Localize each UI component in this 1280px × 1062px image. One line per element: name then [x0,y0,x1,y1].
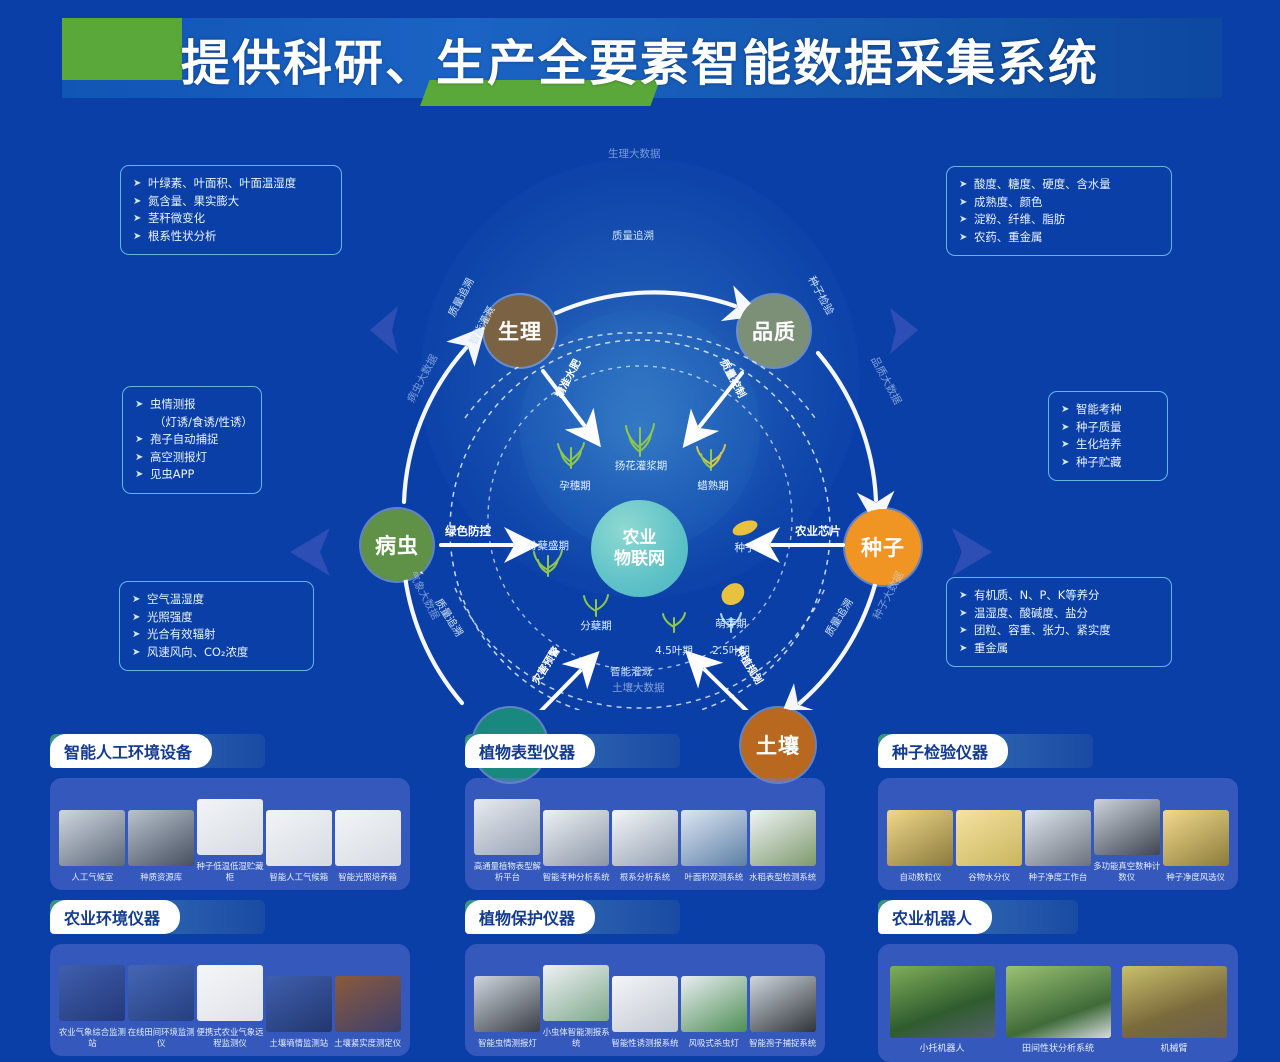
product-item[interactable]: 土壤墒情监测站 [264,976,333,1049]
arrow-bullet-icon: ➤ [132,591,140,609]
panel-title: 植物保护仪器 [465,900,595,934]
info-item: ➤种子质量 [1061,419,1157,437]
product-item[interactable]: 土壤紧实度测定仪 [333,976,402,1049]
panel-body: 高通量植物表型解析平台 智能考种分析系统 根系分析系统 叶面积观测系统 水稻表型… [465,778,825,890]
product-label: 智能孢子捕捉系统 [748,1038,817,1049]
arrow-bullet-icon: ➤ [959,640,967,658]
product-image [266,976,332,1032]
arrow-bullet-icon: ➤ [132,609,140,627]
info-box-weather[interactable]: ➤空气温湿度 ➤光照强度 ➤光合有效辐射 ➤风速风向、CO₂浓度 [119,581,314,671]
product-image [1163,810,1229,866]
header-banner: 提供科研、生产全要素智能数据采集系统 [0,0,1280,118]
info-box-quality[interactable]: ➤酸度、糖度、硬度、含水量 ➤成熟度、颜色 ➤淀粉、纤维、脂肪 ➤农药、重金属 [946,166,1172,256]
product-label: 种质资源库 [127,872,196,883]
product-item[interactable]: 智能人工气候箱 [264,810,333,883]
product-label: 农业气象综合监测站 [58,1027,127,1048]
arrow-bullet-icon: ➤ [133,175,141,193]
panel-header: 植物表型仪器 [465,734,825,782]
panel-title: 植物表型仪器 [465,734,595,768]
panel-title: 智能人工环境设备 [50,734,212,768]
label-soil-bigdata: 土壤大数据 [612,680,665,695]
arrow-bullet-icon: ➤ [959,587,967,605]
product-label: 土壤紧实度测定仪 [333,1038,402,1049]
ecosystem-diagram: 农业 物联网 生理 品质 种子 土壤 气象 病虫 生理大数据 品质大数据 种子大… [0,118,1280,710]
label-green-prevention: 绿色防控 [445,523,491,539]
product-image [1025,810,1091,866]
product-image [197,965,263,1021]
info-box-physiology[interactable]: ➤叶绿素、叶面积、叶面温湿度 ➤氮含量、果实膨大 ➤茎秆微变化 ➤根系性状分析 [120,165,342,255]
info-item: ➤茎秆微变化 [133,210,331,228]
arrow-bullet-icon: ➤ [135,449,143,467]
product-image [750,976,816,1032]
info-item: ➤氮含量、果实膨大 [133,193,331,211]
panel-agriculture-robots: 农业机器人 小托机器人 田间性状分析系统 机械臂 [878,900,1238,1060]
label-smart-irrigation: 智能灌溉 [610,664,652,679]
product-label: 自动数粒仪 [886,872,955,883]
product-image [681,810,747,866]
product-image [128,810,194,866]
stage-dough: 蜡熟期 [683,478,743,493]
info-item: ➤光合有效辐射 [132,626,303,644]
product-image [612,810,678,866]
arrow-bullet-icon: ➤ [959,605,967,623]
info-item: ➤团粒、容重、张力、紧实度 [959,622,1161,640]
node-seed[interactable]: 种子 [845,509,921,585]
product-item[interactable]: 人工气候室 [58,810,127,883]
page-title: 提供科研、生产全要素智能数据采集系统 [0,24,1280,95]
hub-agriculture-iot[interactable]: 农业 物联网 [591,500,688,597]
product-item[interactable]: 种子净度风选仪 [1161,810,1230,883]
product-item[interactable]: 根系分析系统 [611,810,680,883]
node-pest[interactable]: 病虫 [361,509,433,581]
product-label: 人工气候室 [58,872,127,883]
product-label: 智能考种分析系统 [542,872,611,883]
panel-title: 农业环境仪器 [50,900,180,934]
product-image [335,810,401,866]
panel-header: 农业环境仪器 [50,900,410,948]
arrow-bullet-icon: ➤ [1061,436,1069,454]
arrow-bullet-icon: ➤ [133,193,141,211]
product-item[interactable]: 小虫体智能测报系统 [542,965,611,1048]
info-item: ➤智能考种 [1061,401,1157,419]
panel-plant-phenotype-instruments: 植物表型仪器 高通量植物表型解析平台 智能考种分析系统 根系分析系统 叶面积观测… [465,734,825,894]
panel-body: 人工气候室 种质资源库 种子低温低湿贮藏柜 智能人工气候箱 智能光照培养箱 [50,778,410,890]
product-item[interactable]: 种子低温低湿贮藏柜 [196,799,265,882]
info-item: ➤农药、重金属 [959,229,1161,247]
product-image [335,976,401,1032]
product-image [750,810,816,866]
panel-smart-artificial-environment: 智能人工环境设备 人工气候室 种质资源库 种子低温低湿贮藏柜 智能人工气候箱 智… [50,734,410,894]
product-image [1006,966,1111,1038]
label-agri-chip: 农业芯片 [795,523,841,539]
info-item: ➤酸度、糖度、硬度、含水量 [959,176,1161,194]
product-label: 根系分析系统 [611,872,680,883]
info-item: ➤高空测报灯 [135,449,251,467]
product-label: 谷物水分仪 [955,872,1024,883]
arrow-bullet-icon: ➤ [1061,401,1069,419]
info-item: ➤有机质、N、P、K等养分 [959,587,1161,605]
hub-line1: 农业 [623,528,657,549]
product-label: 智能虫情测报灯 [473,1038,542,1049]
arrow-bullet-icon: ➤ [959,229,967,247]
product-item[interactable]: 智能性诱测报系统 [611,976,680,1049]
info-box-soil[interactable]: ➤有机质、N、P、K等养分 ➤温湿度、酸碱度、盐分 ➤团粒、容重、张力、紧实度 … [946,577,1172,667]
product-label: 水稻表型检测系统 [748,872,817,883]
product-label: 智能光照培养箱 [333,872,402,883]
product-label: 土壤墒情监测站 [264,1038,333,1049]
info-item: ➤淀粉、纤维、脂肪 [959,211,1161,229]
product-item[interactable]: 机械臂 [1120,966,1228,1055]
arrow-bullet-icon: ➤ [135,466,143,484]
arrow-bullet-icon: ➤ [959,194,967,212]
product-label: 田间性状分析系统 [1004,1044,1112,1055]
panel-header: 农业机器人 [878,900,1238,948]
info-item: ➤重金属 [959,640,1161,658]
product-label: 种子净度风选仪 [1161,872,1230,883]
node-physiology[interactable]: 生理 [484,295,556,367]
panel-seed-inspection-instruments: 种子检验仪器 自动数粒仪 谷物水分仪 种子净度工作台 多功能真空数种计数仪 种子… [878,734,1238,894]
product-image [266,810,332,866]
product-label: 智能人工气候箱 [264,872,333,883]
product-item[interactable]: 多功能真空数种计数仪 [1092,799,1161,882]
arrow-bullet-icon: ➤ [959,211,967,229]
product-panels: 智能人工环境设备 人工气候室 种质资源库 种子低温低湿贮藏柜 智能人工气候箱 智… [0,712,1280,1061]
product-image [474,976,540,1032]
stage-leaf25: 2.5叶期 [702,643,760,658]
product-item[interactable]: 智能考种分析系统 [542,810,611,883]
arrow-bullet-icon: ➤ [132,644,140,662]
product-item[interactable]: 智能孢子捕捉系统 [748,976,817,1049]
stage-leaf45: 4.5叶期 [645,643,703,658]
product-item[interactable]: 水稻表型检测系统 [748,810,817,883]
label-physiology-bigdata: 生理大数据 [608,146,661,161]
info-item: ➤生化培养 [1061,436,1157,454]
product-label: 小托机器人 [888,1044,996,1055]
stage-booting: 孕穗期 [545,478,605,493]
arrow-bullet-icon: ➤ [135,396,143,414]
stage-tillering: 分蘖期 [567,618,625,633]
product-item[interactable]: 小托机器人 [888,966,996,1055]
info-item: ➤见虫APP [135,466,251,484]
product-item[interactable]: 谷物水分仪 [955,810,1024,883]
product-item[interactable]: 在线田间环境监测仪 [127,965,196,1048]
product-item[interactable]: 高通量植物表型解析平台 [473,799,542,882]
product-image [1094,799,1160,855]
product-item[interactable]: 田间性状分析系统 [1004,966,1112,1055]
panel-title: 农业机器人 [878,900,992,934]
stage-germination: 萌芽期 [702,616,760,631]
info-item: ➤叶绿素、叶面积、叶面温湿度 [133,175,331,193]
info-item: ➤光照强度 [132,609,303,627]
product-label: 小虫体智能测报系统 [542,1027,611,1048]
info-item: ➤根系性状分析 [133,228,331,246]
product-label: 叶面积观测系统 [679,872,748,883]
stage-tiller-peak: 分蘖盛期 [517,538,579,553]
product-label: 种子净度工作台 [1024,872,1093,883]
panel-header: 植物保护仪器 [465,900,825,948]
product-item[interactable]: 自动数粒仪 [886,810,955,883]
product-item[interactable]: 种质资源库 [127,810,196,883]
product-label: 高通量植物表型解析平台 [473,861,542,882]
product-image [956,810,1022,866]
product-image [543,965,609,1021]
product-item[interactable]: 叶面积观测系统 [679,810,748,883]
panel-body: 小托机器人 田间性状分析系统 机械臂 [878,944,1238,1062]
info-item: ➤虫情测报（灯诱/食诱/性诱） [135,396,251,431]
label-quality-trace-top: 质量追溯 [612,228,654,243]
info-box-seed[interactable]: ➤智能考种 ➤种子质量 ➤生化培养 ➤种子贮藏 [1048,391,1168,481]
panel-header: 智能人工环境设备 [50,734,410,782]
panel-body: 农业气象综合监测站 在线田间环境监测仪 便携式农业气象远程监测仪 土壤墒情监测站… [50,944,410,1056]
info-item: ➤成熟度、颜色 [959,194,1161,212]
panel-plant-protection-instruments: 植物保护仪器 智能虫情测报灯 小虫体智能测报系统 智能性诱测报系统 风吸式杀虫灯… [465,900,825,1060]
arrow-bullet-icon: ➤ [1061,454,1069,472]
product-item[interactable]: 智能光照培养箱 [333,810,402,883]
product-image [887,810,953,866]
product-item[interactable]: 种子净度工作台 [1024,810,1093,883]
product-image [59,810,125,866]
product-image [612,976,678,1032]
product-image [59,965,125,1021]
product-image [197,799,263,855]
product-label: 多功能真空数种计数仪 [1092,861,1161,882]
product-label: 种子低温低湿贮藏柜 [196,861,265,882]
product-label: 智能性诱测报系统 [611,1038,680,1049]
info-box-pest[interactable]: ➤虫情测报（灯诱/食诱/性诱） ➤孢子自动捕捉 ➤高空测报灯 ➤见虫APP [122,386,262,494]
arrow-bullet-icon: ➤ [135,431,143,449]
panel-title: 种子检验仪器 [878,734,1008,768]
hub-line2: 物联网 [614,549,665,570]
product-item[interactable]: 农业气象综合监测站 [58,965,127,1048]
product-label: 机械臂 [1120,1044,1228,1055]
info-item: ➤种子贮藏 [1061,454,1157,472]
product-image [1122,966,1227,1038]
product-item[interactable]: 便携式农业气象远程监测仪 [196,965,265,1048]
panel-body: 自动数粒仪 谷物水分仪 种子净度工作台 多功能真空数种计数仪 种子净度风选仪 [878,778,1238,890]
arrow-bullet-icon: ➤ [959,176,967,194]
panel-body: 智能虫情测报灯 小虫体智能测报系统 智能性诱测报系统 风吸式杀虫灯 智能孢子捕捉… [465,944,825,1056]
stage-seed: 种子 [723,540,767,555]
product-image [474,799,540,855]
arrow-bullet-icon: ➤ [133,210,141,228]
info-item: ➤风速风向、CO₂浓度 [132,644,303,662]
product-item[interactable]: 智能虫情测报灯 [473,976,542,1049]
arrow-bullet-icon: ➤ [959,622,967,640]
product-image [681,976,747,1032]
product-item[interactable]: 风吸式杀虫灯 [679,976,748,1049]
arrow-bullet-icon: ➤ [132,626,140,644]
panel-agri-environment-instruments: 农业环境仪器 农业气象综合监测站 在线田间环境监测仪 便携式农业气象远程监测仪 … [50,900,410,1060]
info-item: ➤孢子自动捕捉 [135,431,251,449]
product-label: 便携式农业气象远程监测仪 [196,1027,265,1048]
info-subitem: （灯诱/食诱/性诱） [150,414,251,432]
arrow-bullet-icon: ➤ [1061,419,1069,437]
product-image [543,810,609,866]
product-label: 在线田间环境监测仪 [127,1027,196,1048]
info-item: ➤温湿度、酸碱度、盐分 [959,605,1161,623]
node-quality[interactable]: 品质 [738,295,810,367]
info-item: ➤空气温湿度 [132,591,303,609]
product-image [128,965,194,1021]
panel-header: 种子检验仪器 [878,734,1238,782]
stage-flowering: 扬花灌浆期 [602,458,680,473]
product-label: 风吸式杀虫灯 [679,1038,748,1049]
arrow-bullet-icon: ➤ [133,228,141,246]
product-image [890,966,995,1038]
